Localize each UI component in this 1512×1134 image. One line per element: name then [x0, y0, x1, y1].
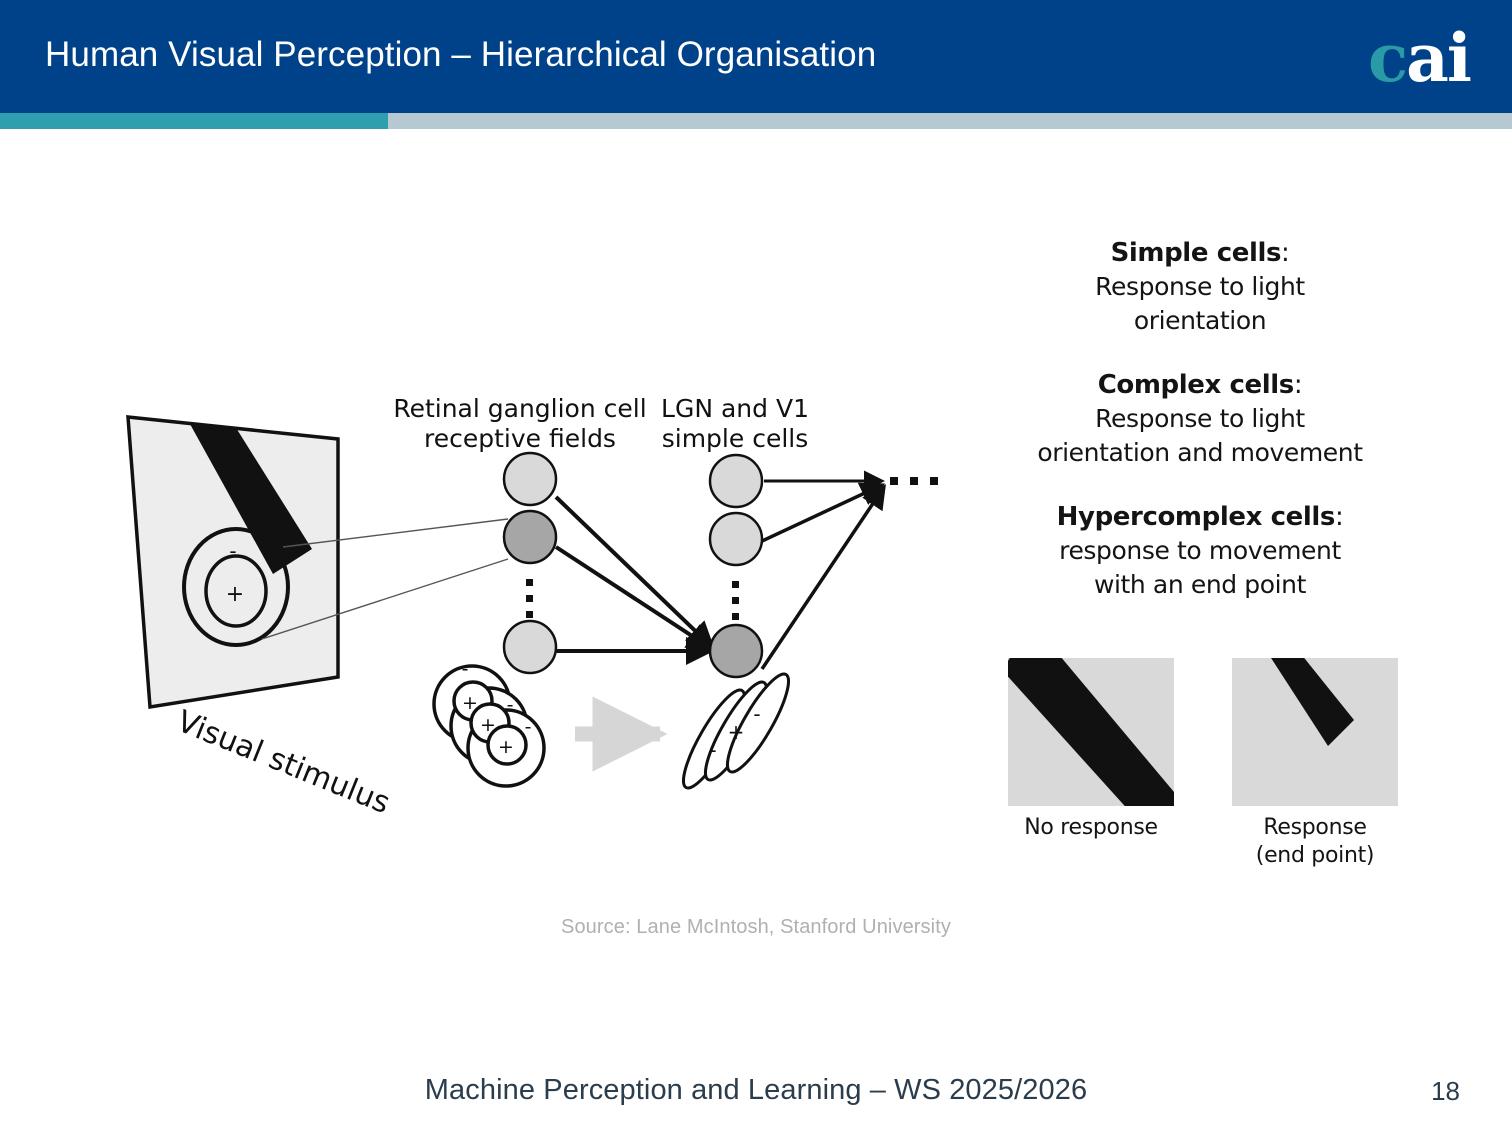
rgc-vdots-2 — [526, 595, 533, 602]
cell-type-complex: Complex cells: Response to light orienta… — [990, 368, 1410, 470]
rgc-node-2 — [504, 511, 556, 563]
end-point-caption-line1: Response — [1232, 814, 1398, 842]
v1-node-1 — [710, 455, 762, 507]
oriented-minus-right: - — [753, 702, 760, 726]
response-example-end-point: Response (end point) — [1232, 658, 1398, 870]
rf-minus-1: - — [462, 658, 469, 680]
oriented-minus-left: - — [709, 738, 716, 762]
rgc-vdots-3 — [526, 611, 533, 618]
oriented-plus: + — [728, 720, 745, 744]
edge-rgc1-to-v1c — [556, 497, 712, 647]
trailing-ellipsis — [890, 477, 938, 485]
retinal-label-line1: Retinal ganglion cell — [393, 394, 646, 423]
v1-vdots-3 — [732, 613, 739, 620]
simple-cells-line2: orientation — [990, 304, 1410, 338]
hypercomplex-cells-line2: with an end point — [990, 568, 1410, 602]
ellipsis-dot-3 — [930, 477, 938, 485]
center-plus-label: + — [226, 582, 244, 607]
hypercomplex-cells-line1: response to movement — [990, 534, 1410, 568]
retinal-column — [504, 453, 556, 673]
rf-plus-2: + — [480, 714, 496, 736]
rf-plus-3: + — [498, 736, 514, 758]
edge-v1b-to-next — [762, 485, 882, 541]
complex-cells-line2: orientation and movement — [990, 436, 1410, 470]
v1-node-2 — [710, 513, 762, 565]
cell-type-hypercomplex: Hypercomplex cells: response to movement… — [990, 500, 1410, 602]
rgc-node-3 — [504, 621, 556, 673]
rf-minus-2: - — [507, 694, 514, 716]
source-attribution: Source: Lane McIntosh, Stanford Universi… — [0, 916, 1512, 939]
end-point-stimulus-box — [1232, 658, 1398, 806]
cell-type-simple: Simple cells: Response to light orientat… — [990, 236, 1410, 338]
hypercomplex-cells-heading: Hypercomplex cells: — [990, 500, 1410, 534]
accent-bar-teal — [0, 113, 388, 129]
complex-cells-line1: Response to light — [990, 402, 1410, 436]
visual-stimulus-label: Visual stimulus — [172, 704, 395, 821]
edge-rgc2-to-v1c — [556, 547, 712, 649]
footer-course-label: Machine Perception and Learning – WS 202… — [0, 1074, 1512, 1107]
v1-vdots-1 — [732, 581, 739, 588]
end-point-caption-line2: (end point) — [1232, 842, 1398, 870]
rf-plus-1: + — [462, 692, 478, 714]
surround-minus-label: - — [229, 539, 236, 563]
page-number: 18 — [1431, 1076, 1460, 1107]
rgc-vdots-1 — [526, 579, 533, 586]
simple-cells-heading: Simple cells: — [990, 236, 1410, 270]
response-example-no-response: No response — [1008, 658, 1174, 870]
ellipsis-dot-1 — [890, 477, 898, 485]
rgc-node-1 — [504, 453, 556, 505]
ending-diagonal-bar — [1262, 658, 1354, 746]
v1-vdots-2 — [732, 597, 739, 604]
lgn-label-line1: LGN and V1 — [661, 394, 809, 423]
page-title: Human Visual Perception – Hierarchical O… — [45, 33, 876, 77]
retinal-label-line2: receptive fields — [424, 424, 616, 453]
cai-logo: cai — [1368, 23, 1470, 93]
logo-letter-c: c — [1368, 25, 1406, 91]
lgn-label-line2: simple cells — [662, 424, 809, 453]
no-response-stimulus-box — [1008, 658, 1174, 806]
logo-letters-ai: ai — [1406, 25, 1470, 91]
response-examples: No response Response (end point) — [1008, 658, 1398, 870]
simple-cells-line1: Response to light — [990, 270, 1410, 304]
lgn-v1-column — [710, 455, 762, 677]
visual-stimulus-panel: - + — [128, 415, 508, 707]
no-response-caption: No response — [1008, 814, 1174, 842]
v1-node-3 — [710, 625, 762, 677]
complex-cells-heading: Complex cells: — [990, 368, 1410, 402]
full-diagonal-bar — [1008, 658, 1174, 806]
cell-type-descriptions: Simple cells: Response to light orientat… — [990, 236, 1410, 602]
rf-minus-3: - — [525, 716, 532, 738]
ellipsis-dot-2 — [910, 477, 918, 485]
